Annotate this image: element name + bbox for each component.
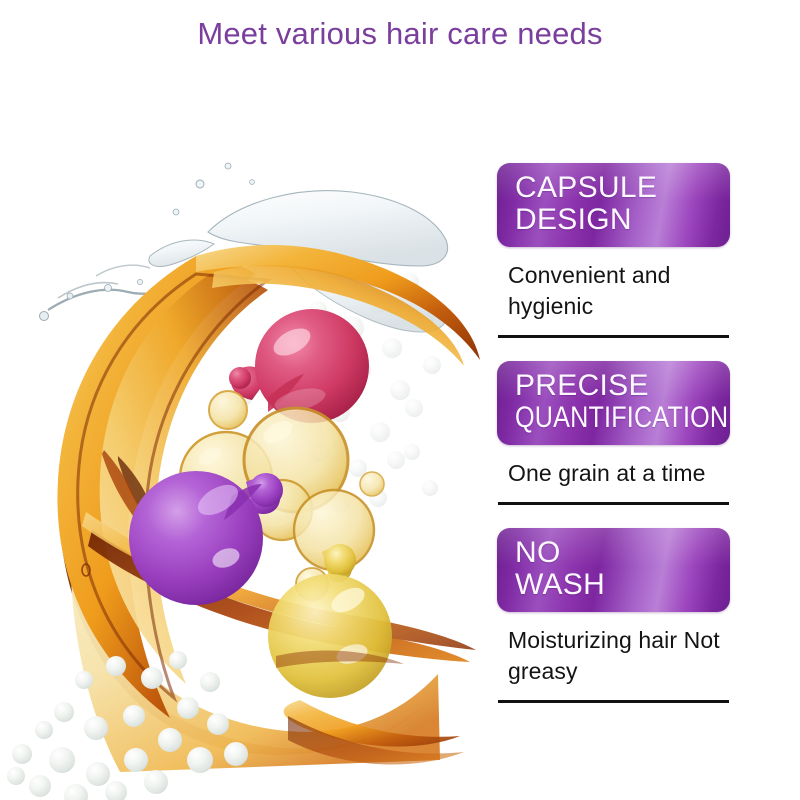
feature-description: Convenient and hygienic <box>508 260 728 323</box>
product-feature-panel: Meet various hair care needs <box>0 0 800 800</box>
feature-divider <box>498 335 729 338</box>
page-title: Meet various hair care needs <box>0 16 800 52</box>
feature-badge-precise-quantification: PRECISE QUANTIFICATION <box>497 361 730 445</box>
feature-badge-no-wash: NO WASH <box>497 528 730 612</box>
feature-badge-line: QUANTIFICATION <box>515 402 696 434</box>
hero-artwork <box>0 60 500 800</box>
feature-list: CAPSULE DESIGN Convenient and hygienic P… <box>497 163 733 703</box>
feature-divider <box>498 700 729 703</box>
feature-badge-line: NO <box>515 537 730 569</box>
feature-item-capsule-design: CAPSULE DESIGN Convenient and hygienic <box>497 163 733 338</box>
feature-description: One grain at a time <box>508 458 728 489</box>
feature-badge-line: DESIGN <box>515 204 730 236</box>
feature-badge-line: CAPSULE <box>515 172 730 204</box>
feature-item-no-wash: NO WASH Moisturizing hair Not greasy <box>497 528 733 703</box>
feature-badge-line: PRECISE <box>515 370 730 402</box>
feature-badge-capsule-design: CAPSULE DESIGN <box>497 163 730 247</box>
feature-item-precise-quantification: PRECISE QUANTIFICATION One grain at a ti… <box>497 361 733 505</box>
feature-divider <box>498 502 729 505</box>
feature-badge-line: WASH <box>515 569 730 601</box>
feature-description: Moisturizing hair Not greasy <box>508 625 728 688</box>
